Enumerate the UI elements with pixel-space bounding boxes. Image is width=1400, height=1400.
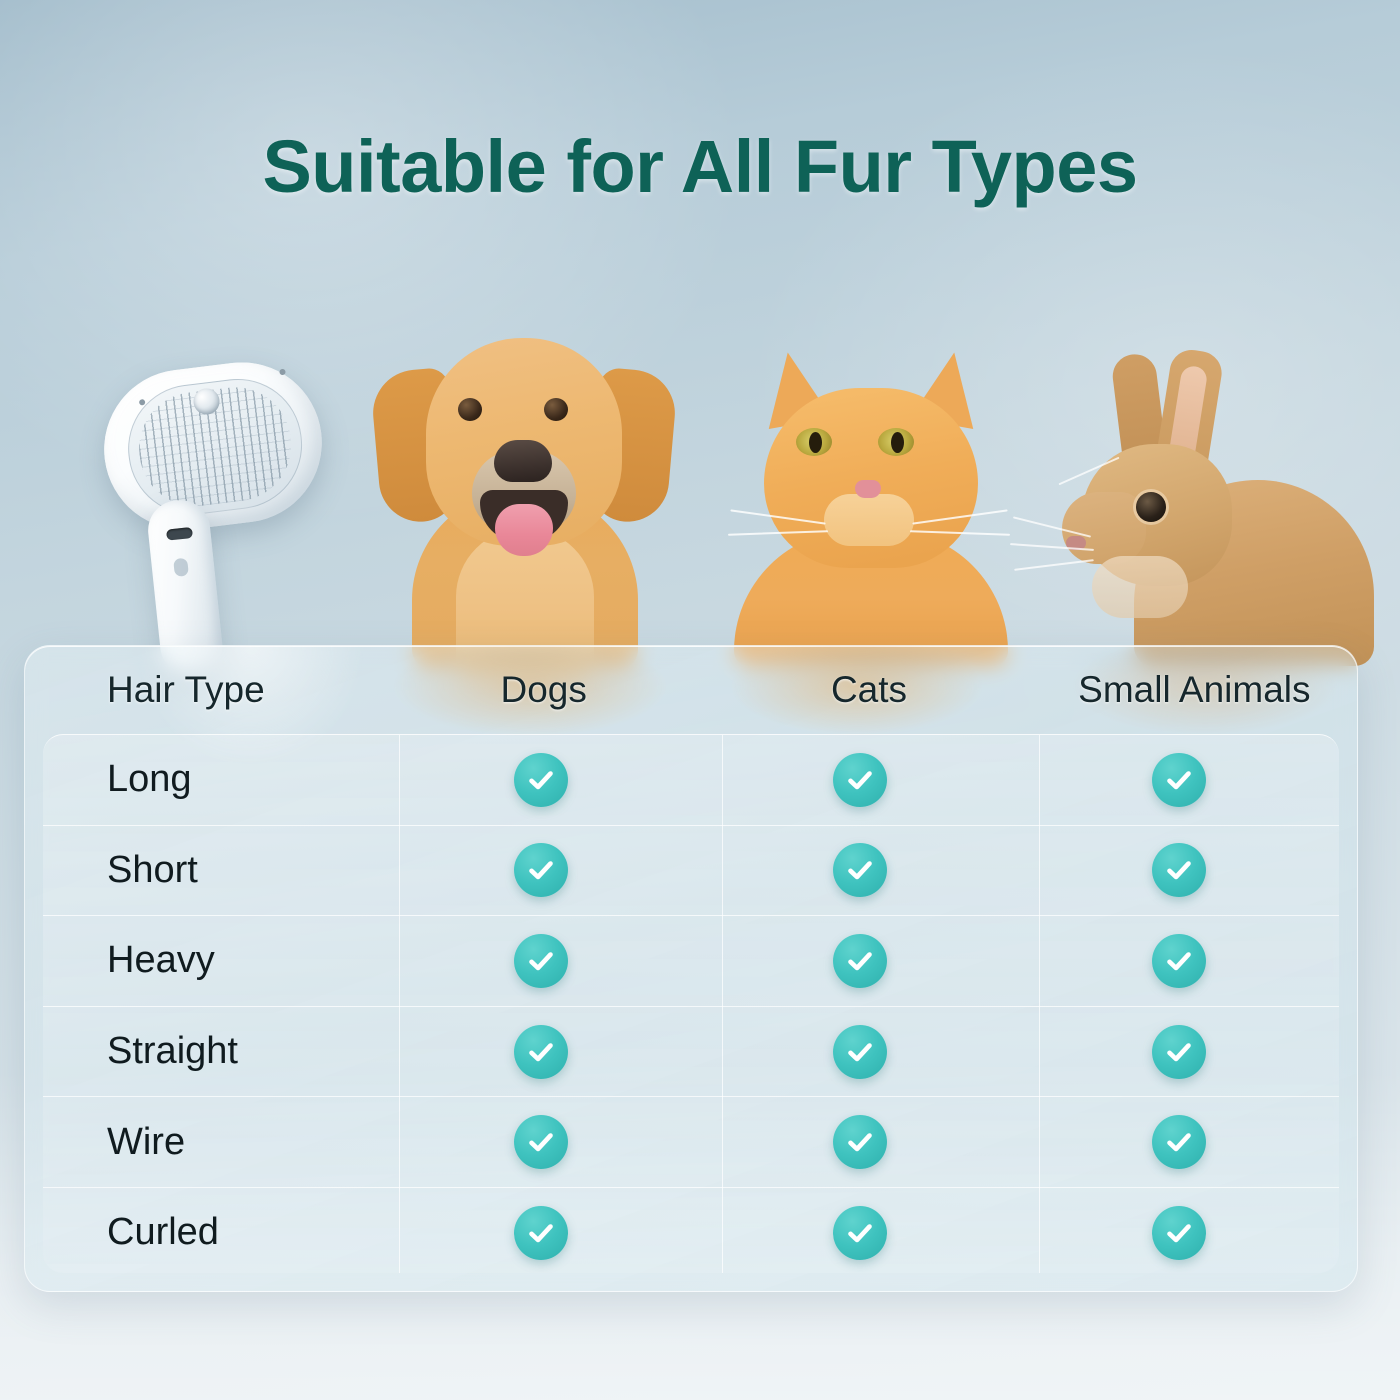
row-label-long: Long — [43, 758, 381, 801]
cat-pupil-right — [891, 432, 904, 453]
cell-long-dogs — [381, 753, 700, 807]
table-header-row: Hair Type Dogs Cats Small Animals — [25, 646, 1357, 734]
check-icon — [833, 843, 887, 897]
cell-long-small_animals — [1020, 753, 1339, 807]
cell-straight-small_animals — [1020, 1025, 1339, 1079]
dog-nose — [494, 440, 552, 482]
cell-wire-cats — [700, 1115, 1019, 1169]
cell-short-cats — [700, 843, 1019, 897]
cell-short-dogs — [381, 843, 700, 897]
table-row: Straight — [43, 1007, 1339, 1098]
check-icon — [833, 753, 887, 807]
check-icon — [514, 1115, 568, 1169]
brush-head — [95, 353, 331, 538]
row-label-heavy: Heavy — [43, 939, 381, 982]
rabbit-photo — [1040, 350, 1372, 662]
dog-eye-right — [544, 398, 568, 421]
column-header-cats: Cats — [706, 669, 1031, 711]
column-header-hair-type: Hair Type — [25, 669, 381, 711]
dog-tongue — [495, 504, 553, 556]
check-icon — [833, 1025, 887, 1079]
page-title: Suitable for All Fur Types — [0, 124, 1400, 209]
cat-pupil-left — [809, 432, 822, 453]
check-icon — [1152, 1206, 1206, 1260]
check-icon — [1152, 934, 1206, 988]
cell-short-small_animals — [1020, 843, 1339, 897]
rabbit-snout — [1062, 492, 1146, 564]
check-icon — [1152, 1025, 1206, 1079]
row-label-curled: Curled — [43, 1211, 381, 1254]
check-icon — [833, 1206, 887, 1260]
comparison-table-panel: Hair Type Dogs Cats Small Animals LongSh… — [24, 645, 1358, 1292]
check-icon — [833, 1115, 887, 1169]
dog-eye-left — [458, 398, 482, 421]
cell-wire-small_animals — [1020, 1115, 1339, 1169]
cell-straight-dogs — [381, 1025, 700, 1079]
cat-nose — [855, 480, 881, 498]
cell-heavy-cats — [700, 934, 1019, 988]
cell-curled-cats — [700, 1206, 1019, 1260]
check-icon — [1152, 843, 1206, 897]
check-icon — [833, 934, 887, 988]
brush-handle-slot — [166, 527, 193, 541]
cell-curled-small_animals — [1020, 1206, 1339, 1260]
cat-photo — [712, 344, 1030, 662]
table-row: Curled — [43, 1188, 1339, 1273]
infographic-canvas: Suitable for All Fur Types — [0, 0, 1400, 1400]
brush-screw-dot — [279, 369, 286, 376]
check-icon — [514, 1025, 568, 1079]
row-label-short: Short — [43, 849, 381, 892]
cell-long-cats — [700, 753, 1019, 807]
row-label-straight: Straight — [43, 1030, 381, 1073]
table-body: LongShortHeavyStraightWireCurled — [43, 734, 1339, 1273]
check-icon — [514, 843, 568, 897]
column-header-dogs: Dogs — [381, 669, 706, 711]
check-icon — [514, 753, 568, 807]
cell-wire-dogs — [381, 1115, 700, 1169]
cell-curled-dogs — [381, 1206, 700, 1260]
check-icon — [514, 934, 568, 988]
rabbit-cheek — [1092, 556, 1188, 618]
table-row: Wire — [43, 1097, 1339, 1188]
table-row: Heavy — [43, 916, 1339, 1007]
cat-muzzle — [824, 494, 914, 546]
check-icon — [1152, 1115, 1206, 1169]
row-label-wire: Wire — [43, 1121, 381, 1164]
table-row: Short — [43, 826, 1339, 917]
cell-straight-cats — [700, 1025, 1019, 1079]
rabbit-eye — [1136, 492, 1166, 522]
table-row: Long — [43, 735, 1339, 826]
grooming-brush-image — [58, 352, 358, 672]
dog-photo — [368, 322, 680, 662]
brush-handle-vent — [173, 558, 189, 577]
check-icon — [514, 1206, 568, 1260]
cell-heavy-small_animals — [1020, 934, 1339, 988]
cell-heavy-dogs — [381, 934, 700, 988]
check-icon — [1152, 753, 1206, 807]
column-header-small-animals: Small Animals — [1032, 669, 1357, 711]
